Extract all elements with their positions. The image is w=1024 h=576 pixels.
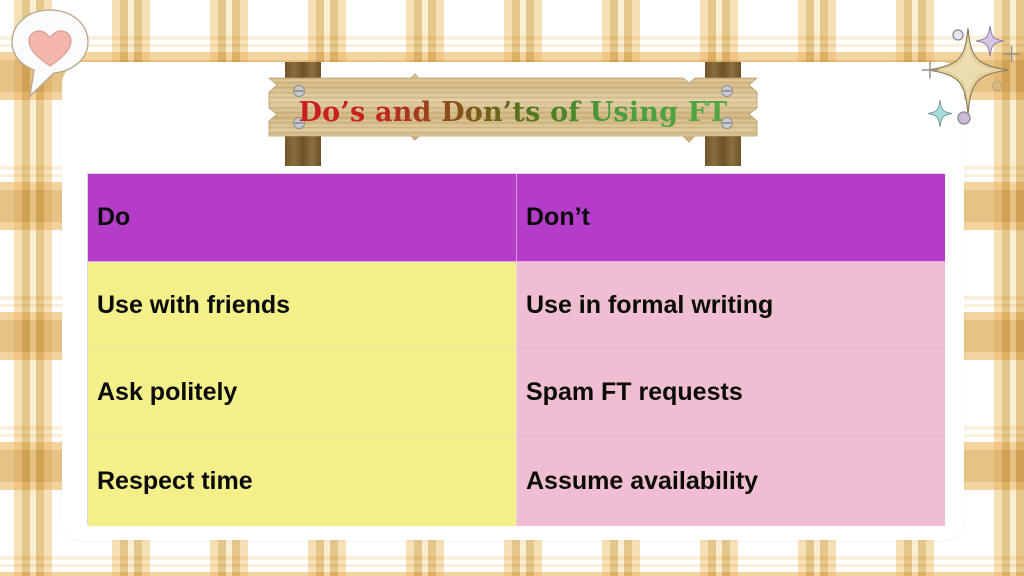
table-cell-do-2: Ask politely <box>88 348 516 435</box>
table-cell-dont-3: Assume availability <box>516 435 945 526</box>
table-cell-do-1: Use with friends <box>88 261 516 348</box>
table-cell-dont-2: Spam FT requests <box>516 348 945 435</box>
heart-speech-bubble-icon <box>4 6 96 102</box>
page-title: Do’s and Don’ts of Using FT <box>263 62 763 166</box>
table-cell-dont-1: Use in formal writing <box>516 261 945 348</box>
slide-canvas: Do’s and Don’ts of Using FT Do Don’t Use… <box>0 0 1024 576</box>
dos-and-donts-table: Do Don’t Use with friends Use in formal … <box>87 173 944 525</box>
table-header-dont: Don’t <box>516 174 945 261</box>
wooden-sign-icon: Do’s and Don’ts of Using FT <box>263 62 763 166</box>
table-cell-do-3: Respect time <box>88 435 516 526</box>
sparkle-cluster-icon <box>898 8 1024 140</box>
table-header-do: Do <box>88 174 516 261</box>
